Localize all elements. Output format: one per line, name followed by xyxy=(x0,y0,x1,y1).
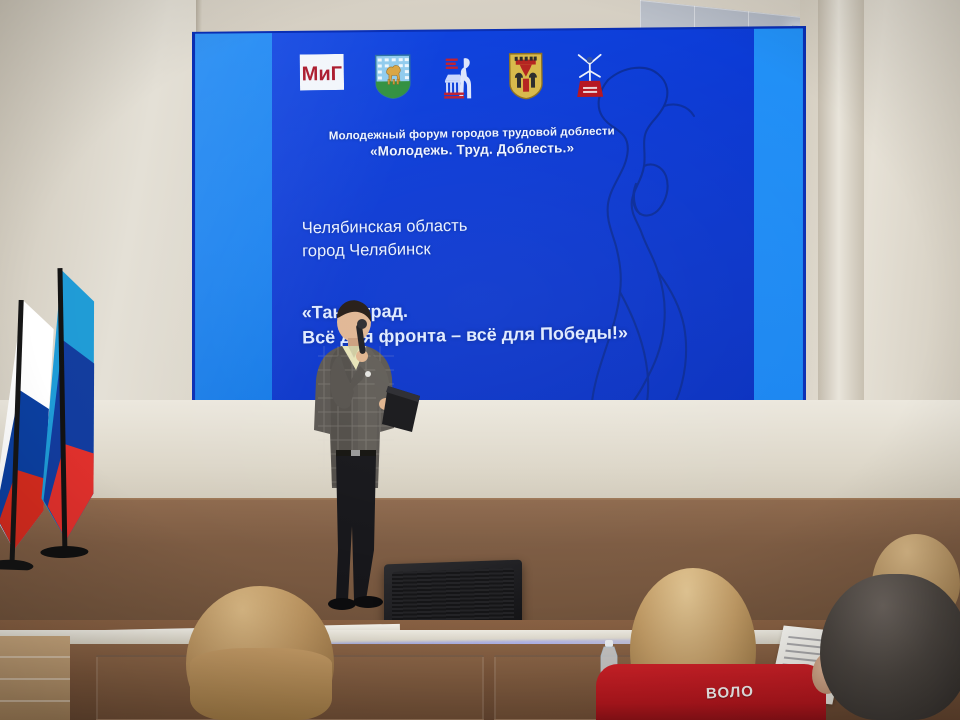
attendee-head-right xyxy=(820,574,960,720)
attendee-hair-left xyxy=(190,648,332,720)
red-monument-emblem xyxy=(574,51,607,99)
slide-left-band xyxy=(192,26,272,416)
slide-region-line1: Челябинская область xyxy=(302,215,468,241)
screen-surface: МиГ xyxy=(192,26,806,416)
shirt-text: ВОЛО xyxy=(706,683,763,703)
svg-text:МиГ: МиГ xyxy=(302,63,343,85)
desk-left-cabinet xyxy=(0,636,70,720)
slide-region-block: Челябинская область город Челябинск xyxy=(302,215,468,264)
stage-back-wall xyxy=(0,400,960,510)
mig-logo-emblem: МиГ xyxy=(300,54,344,91)
flag-lnr xyxy=(27,267,104,558)
slide-region-line2: город Челябинск xyxy=(302,238,468,264)
gold-coat-of-arms-emblem xyxy=(508,51,545,99)
emblem-row: МиГ xyxy=(300,50,701,117)
tankograd-monument-silhouette xyxy=(584,62,774,414)
photo-canvas: МиГ xyxy=(0,0,960,720)
presentation-screen: МиГ xyxy=(192,26,806,416)
chelyabinsk-coat-of-arms-emblem xyxy=(374,53,413,99)
magnitogorsk-emblem xyxy=(442,52,479,100)
